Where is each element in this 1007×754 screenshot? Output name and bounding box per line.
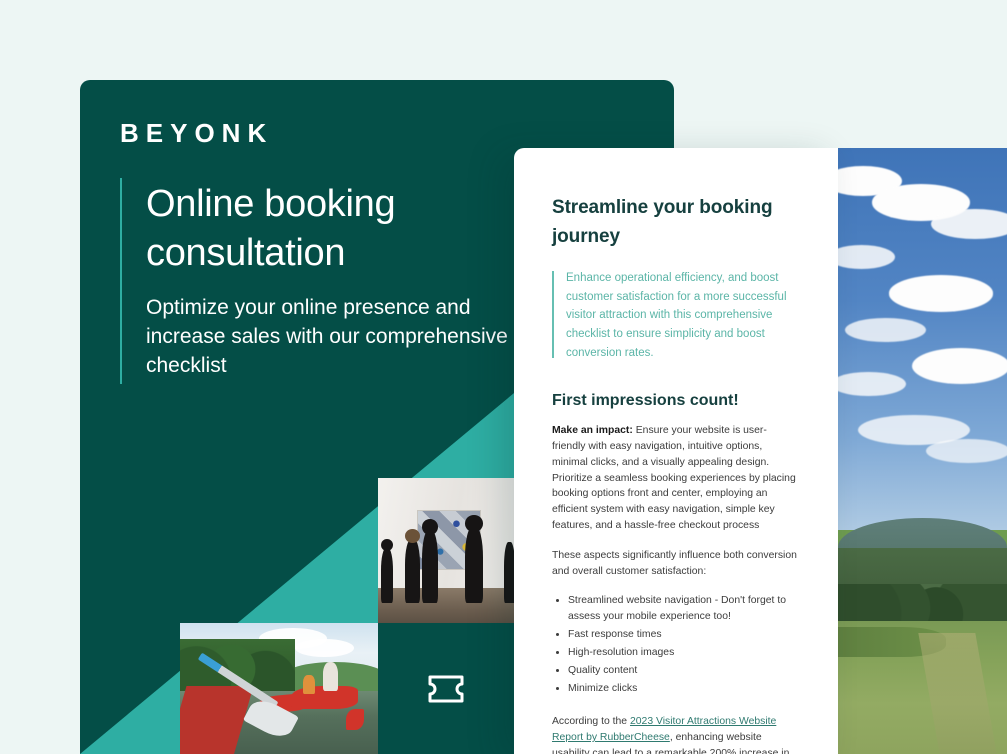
checklist: Streamlined website navigation - Don't f… [552, 593, 800, 696]
ticket-icon [427, 674, 465, 704]
list-item: Minimize clicks [568, 681, 800, 697]
body-lead-in: Make an impact: [552, 425, 633, 436]
cloud [889, 275, 994, 311]
gallery-visitor [405, 539, 420, 603]
list-item: Quality content [568, 663, 800, 679]
body-paragraph-1: Make an impact: Ensure your website is u… [552, 423, 800, 534]
cloud [931, 209, 1007, 239]
paddler [303, 675, 315, 693]
visitor-head [422, 519, 438, 535]
content-card-inner: Streamline your booking journey Enhance … [514, 148, 838, 754]
list-item: Fast response times [568, 627, 800, 643]
art-gallery-photo [378, 478, 514, 623]
visitor-head [405, 529, 420, 543]
visitor-head [381, 539, 393, 551]
gallery-floor [378, 588, 514, 623]
marketing-page: BEYONK Online booking consultation Optim… [0, 0, 1007, 754]
gallery-visitor [381, 548, 393, 603]
paddler [323, 662, 339, 691]
content-subtitle: First impressions count! [552, 392, 800, 410]
content-title: Streamline your booking journey [552, 194, 800, 251]
cloud [845, 318, 926, 342]
cloud [926, 439, 1007, 463]
list-item: High-resolution images [568, 645, 800, 661]
countryside-landscape-photo [838, 148, 1007, 754]
gallery-visitor [465, 527, 483, 602]
cloud [295, 639, 354, 657]
gallery-visitor [422, 530, 438, 603]
cloud [912, 348, 1007, 384]
body-paragraph-1-text: Ensure your website is user-friendly wit… [552, 425, 796, 531]
quote-text: Enhance operational efficiency, and boos… [566, 269, 800, 362]
canoeing-photo [180, 623, 378, 754]
beyonk-logo: BEYONK [120, 120, 273, 146]
page-subtitle: Optimize your online presence and increa… [146, 294, 546, 381]
body-paragraph-2: These aspects significantly influence bo… [552, 548, 800, 580]
content-card: Streamline your booking journey Enhance … [514, 148, 838, 754]
page-title: Online booking consultation [146, 180, 566, 279]
quote-callout: Enhance operational efficiency, and boos… [552, 269, 800, 362]
footnote-prefix: According to the [552, 716, 630, 727]
headline-accent-rule [120, 178, 122, 384]
ticket-icon-block [378, 623, 514, 754]
list-item: Streamlined website navigation - Don't f… [568, 593, 800, 625]
gallery-visitor [504, 542, 514, 603]
footnote: According to the 2023 Visitor Attraction… [552, 714, 800, 754]
visitor-head [465, 515, 483, 532]
